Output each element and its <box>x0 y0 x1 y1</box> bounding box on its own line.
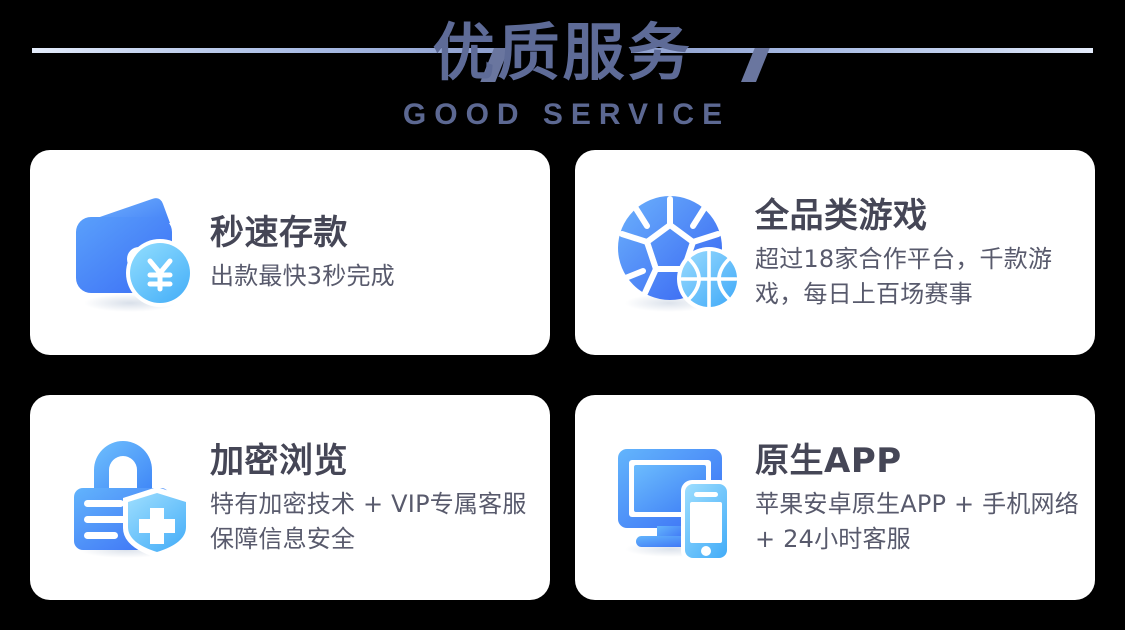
section-header: 优质服务 GOOD SERVICE <box>0 0 1125 145</box>
feature-card[interactable]: 原生APP 苹果安卓原生APP + 手机网络 + 24小时客服 <box>575 395 1095 600</box>
feature-card-text: 原生APP 苹果安卓原生APP + 手机网络 + 24小时客服 <box>755 439 1095 557</box>
feature-card-text: 秒速存款 出款最快3秒完成 <box>210 211 550 294</box>
good-service-panel: 优质服务 GOOD SERVICE <box>0 0 1125 630</box>
feature-card-desc: 超过18家合作平台，千款游戏，每日上百场赛事 <box>755 238 1081 312</box>
header-title-block: 优质服务 GOOD SERVICE <box>0 0 1125 132</box>
feature-card-grid: 秒速存款 出款最快3秒完成 <box>30 150 1095 605</box>
feature-card-desc: 出款最快3秒完成 <box>210 255 536 294</box>
feature-card-title: 加密浏览 <box>210 439 536 483</box>
lock-shield-icon <box>64 430 200 566</box>
wallet-yen-icon <box>64 185 200 321</box>
feature-card[interactable]: 秒速存款 出款最快3秒完成 <box>30 150 550 355</box>
page-title: 优质服务 <box>0 0 1125 96</box>
feature-card-desc: 特有加密技术 + VIP专属客服保障信息安全 <box>210 483 536 557</box>
feature-card-text: 加密浏览 特有加密技术 + VIP专属客服保障信息安全 <box>210 439 550 557</box>
feature-card-title: 全品类游戏 <box>755 194 1081 238</box>
feature-card-desc: 苹果安卓原生APP + 手机网络 + 24小时客服 <box>755 483 1081 557</box>
feature-card[interactable]: 全品类游戏 超过18家合作平台，千款游戏，每日上百场赛事 <box>575 150 1095 355</box>
feature-card[interactable]: 加密浏览 特有加密技术 + VIP专属客服保障信息安全 <box>30 395 550 600</box>
feature-card-title: 原生APP <box>755 439 1081 483</box>
page-subtitle: GOOD SERVICE <box>0 96 1125 132</box>
soccer-basketball-icon <box>609 185 745 321</box>
feature-card-text: 全品类游戏 超过18家合作平台，千款游戏，每日上百场赛事 <box>755 194 1095 312</box>
feature-card-title: 秒速存款 <box>210 211 536 255</box>
monitor-phone-icon <box>609 430 745 566</box>
